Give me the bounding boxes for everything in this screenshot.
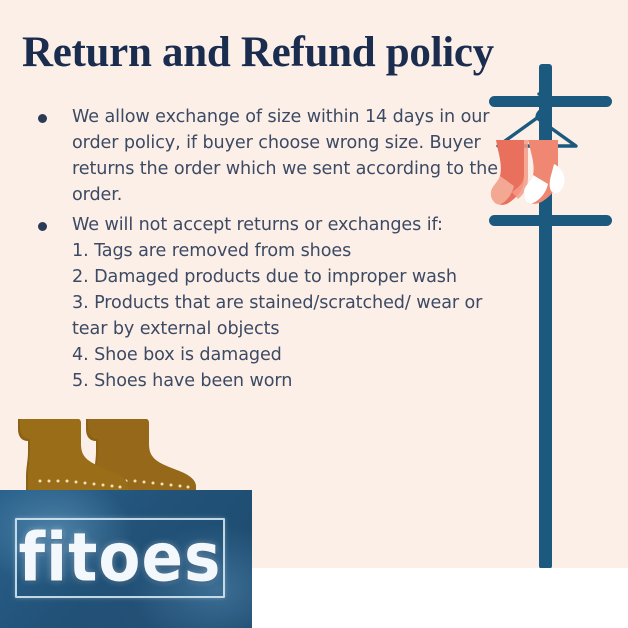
bullet-dot-icon — [38, 114, 47, 123]
sub-list-item: 3. Products that are stained/scratched/ … — [72, 290, 510, 342]
sub-list-item: 5. Shoes have been worn — [72, 368, 510, 394]
brand-logo-text: fitoes — [13, 513, 227, 603]
policy-body: We allow exchange of size within 14 days… — [30, 104, 510, 394]
list-item: We will not accept returns or exchanges … — [30, 212, 510, 394]
page-title: Return and Refund policy — [22, 29, 582, 77]
sub-list-item: 2. Damaged products due to improper wash — [72, 264, 510, 290]
poster-canvas: Return and Refund policy We allow exchan… — [0, 0, 628, 628]
sub-list-item: 4. Shoe box is damaged — [72, 342, 510, 368]
list-item: We allow exchange of size within 14 days… — [30, 104, 510, 208]
bullet-dot-icon — [38, 222, 47, 231]
sub-list-item: 1. Tags are removed from shoes — [72, 238, 510, 264]
bullet-text: We allow exchange of size within 14 days… — [72, 107, 498, 205]
bullet-text: We will not accept returns or exchanges … — [72, 215, 443, 235]
